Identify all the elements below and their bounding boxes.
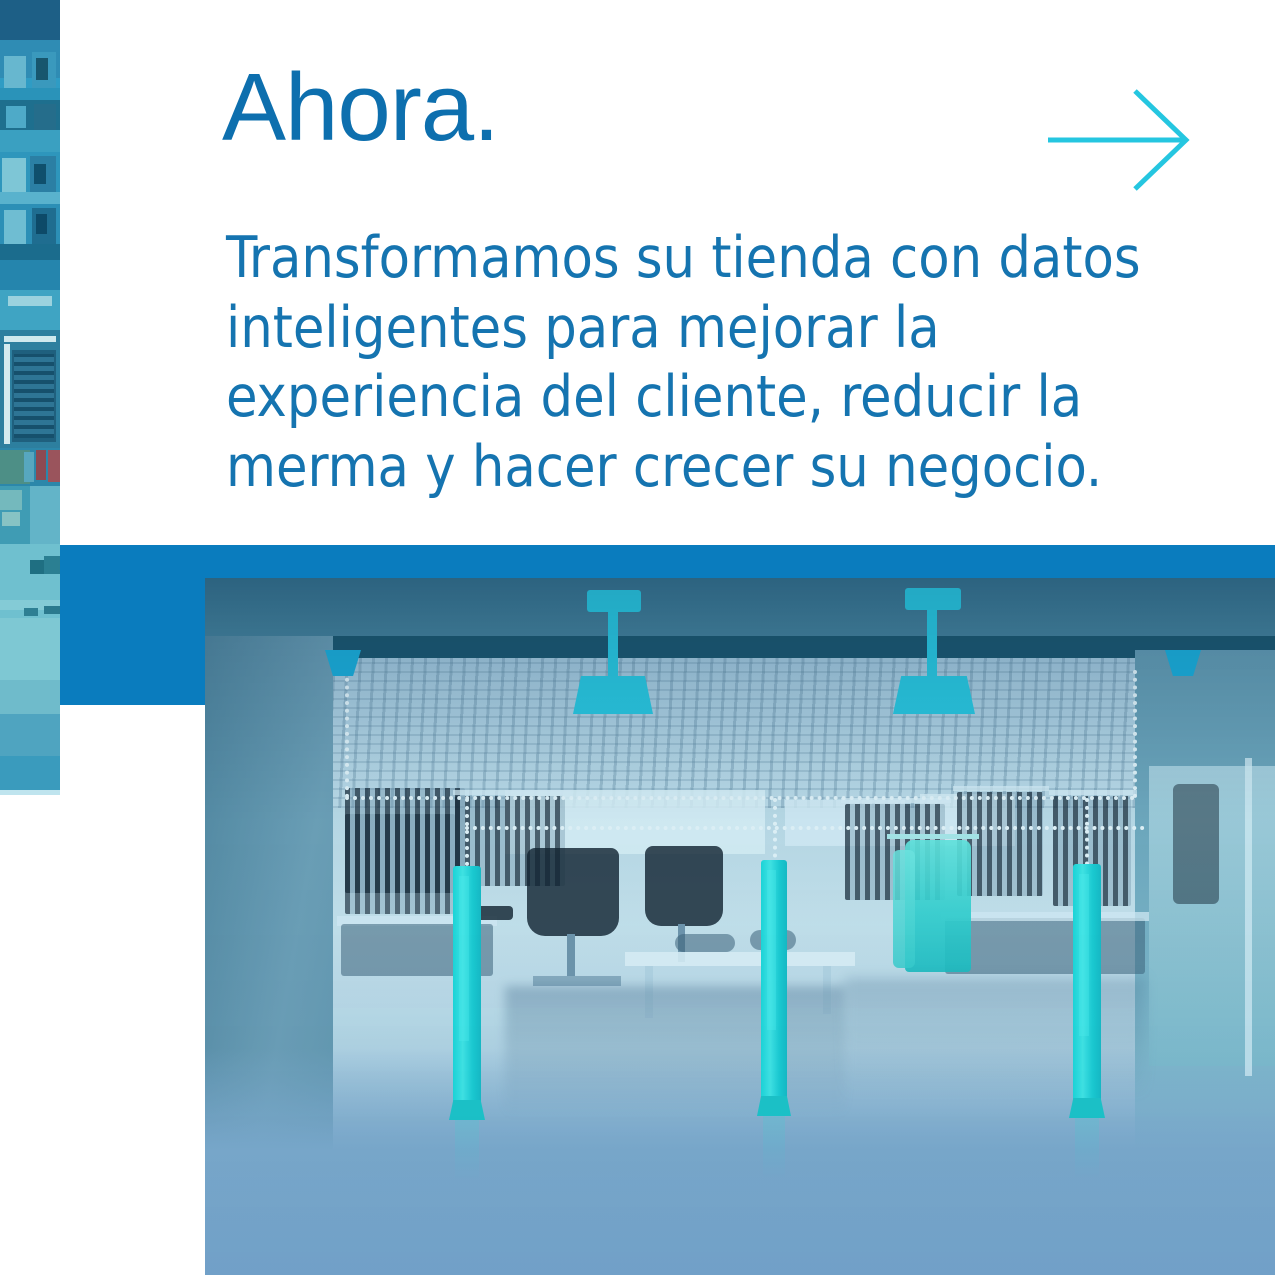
ceiling-sensor-left-stem <box>608 610 618 680</box>
subtitle-text: Transformamos su tienda con datos inteli… <box>226 224 1176 502</box>
photo-shelf-right-top <box>941 912 1149 921</box>
arrow-right-icon[interactable] <box>1040 85 1200 195</box>
store-interior-photo <box>205 578 1275 1275</box>
eas-pedestal-center-glow <box>767 870 776 1030</box>
ceiling-sensor-right-head <box>893 676 975 714</box>
photo-rail-left <box>453 790 571 795</box>
photo-mannequin-center <box>645 846 723 926</box>
photo-highlight-garments-2 <box>893 850 915 968</box>
eas-pedestal-center-reflection <box>763 1116 785 1178</box>
page-title: Ahora. <box>222 58 499 159</box>
network-line-left-vertical <box>345 670 349 798</box>
eas-pedestal-left-glow <box>459 876 469 1041</box>
arrow-right-svg <box>1040 85 1200 195</box>
network-line-mid <box>465 826 1145 830</box>
ceiling-sensor-right-stem <box>927 608 937 680</box>
photo-shelf-right <box>945 918 1145 974</box>
photo-rack-left-lower <box>345 814 455 914</box>
network-line-right-vertical <box>1133 670 1137 798</box>
ceiling-sensor-right-mount <box>905 588 961 610</box>
left-blurred-photo-strip <box>0 0 60 795</box>
photo-right-mirror-frame <box>1245 758 1252 1076</box>
ceiling-sensor-left-head <box>573 676 653 714</box>
photo-mannequin-center-left <box>527 848 619 936</box>
eas-pedestal-right-glow <box>1079 874 1089 1036</box>
network-line-top <box>345 796 1135 800</box>
photo-mirror-garment <box>1173 784 1219 904</box>
photo-display-table <box>625 952 855 966</box>
eas-pedestal-left-reflection <box>455 1120 479 1180</box>
eas-pedestal-right-reflection <box>1075 1118 1099 1178</box>
eas-pedestal-left-foot <box>449 1100 485 1120</box>
photo-ceiling-slab <box>205 578 1275 636</box>
photo-rail-right-b <box>953 786 1049 791</box>
photo-rail-right-c <box>1049 790 1137 795</box>
eas-pedestal-right-foot <box>1069 1098 1105 1118</box>
photo-mannequin-stand-left <box>567 934 575 980</box>
photo-mannequin-base-left <box>533 976 621 986</box>
eas-pedestal-center-foot <box>757 1096 791 1116</box>
photo-highlight-rail <box>887 834 979 839</box>
photo-table-goods <box>675 934 735 952</box>
photo-ceiling-shadow <box>205 636 1275 658</box>
photo-floor-reflection <box>505 986 845 1116</box>
ceiling-sensor-left-mount <box>587 590 641 612</box>
